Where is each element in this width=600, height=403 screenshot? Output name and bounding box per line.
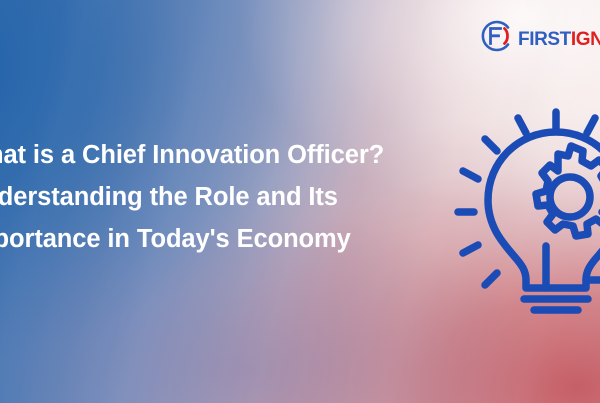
logo-word-ignite: Ignite bbox=[571, 23, 600, 50]
headline-line-3: Importance in Today's Economy bbox=[0, 218, 464, 260]
headline-line-1: What is a Chief Innovation Officer? bbox=[0, 134, 464, 176]
article-hero-banner: FirstIgnite What is a Chief Innovation O… bbox=[0, 0, 600, 403]
logo-word-first: First bbox=[518, 23, 571, 50]
logo-red-bracket bbox=[505, 29, 508, 44]
logo-wordmark: FirstIgnite bbox=[518, 23, 600, 50]
headline-line-2: Understanding the Role and Its bbox=[0, 176, 464, 218]
circle-f-mark-icon bbox=[478, 18, 514, 54]
page-title: What is a Chief Innovation Officer? Unde… bbox=[0, 134, 464, 260]
first-ignite-logo[interactable]: FirstIgnite bbox=[478, 18, 600, 54]
logo-letter-f bbox=[491, 29, 501, 44]
